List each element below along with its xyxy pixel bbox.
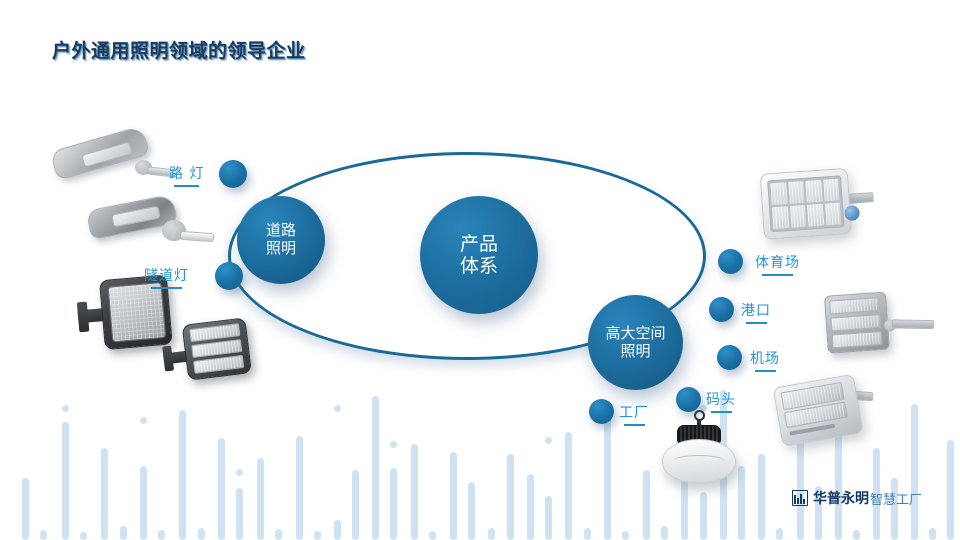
node-label-text: 港口 xyxy=(741,303,771,319)
decor-bar xyxy=(565,432,572,540)
node-label-tunnel-light[interactable]: 隧道灯 xyxy=(144,265,189,289)
flood-led-grid xyxy=(767,175,844,232)
slide-canvas: 户外通用照明领域的领导企业 xyxy=(0,0,960,540)
decor-bar xyxy=(236,488,243,540)
decor-bar xyxy=(622,531,629,540)
label-underline xyxy=(151,287,183,289)
decor-bar xyxy=(507,454,514,540)
node-label-text: 体育场 xyxy=(755,255,800,271)
node-label-text: 码头 xyxy=(706,392,736,408)
led-cell xyxy=(788,181,805,204)
flood-led-face xyxy=(108,282,167,342)
node-label-factory[interactable]: 工厂 xyxy=(619,402,649,426)
decor-bar xyxy=(275,529,282,540)
decor-bar xyxy=(776,528,783,540)
decor-bar xyxy=(700,492,707,540)
product-module-flood xyxy=(824,288,938,358)
label-underline xyxy=(711,411,732,413)
node-label-airport[interactable]: 机场 xyxy=(750,348,780,372)
decor-bar xyxy=(314,531,321,540)
logo-brand-name: 华普永明 xyxy=(813,488,869,508)
decor-bar-tick xyxy=(390,441,397,448)
node-dot-tunnel-light[interactable] xyxy=(215,262,243,290)
decor-bar xyxy=(411,444,418,540)
hub-space-label: 高大空间 照明 xyxy=(605,325,665,360)
product-tunnel-flood-small xyxy=(160,315,259,388)
node-label-text: 工厂 xyxy=(619,405,649,421)
decor-bar xyxy=(296,436,303,540)
led-cell xyxy=(805,180,822,203)
led-cell xyxy=(789,205,806,228)
label-underline xyxy=(755,370,776,372)
blue-knob xyxy=(844,205,860,221)
hub-center-line2: 体系 xyxy=(460,255,498,277)
hub-road-line2: 照明 xyxy=(266,239,296,257)
node-dot-port[interactable] xyxy=(709,297,734,322)
product-street-lamp-lower xyxy=(88,196,213,254)
led-cell xyxy=(772,206,789,229)
decor-bar xyxy=(488,528,495,540)
decor-bar xyxy=(947,440,954,540)
hub-road-lighting[interactable]: 道路 照明 xyxy=(237,196,325,284)
label-underline xyxy=(624,424,645,426)
logo-mark-icon xyxy=(792,490,808,506)
decor-bar xyxy=(140,466,147,540)
node-label-street-light[interactable]: 路 灯 xyxy=(169,163,204,187)
decor-bar xyxy=(218,438,225,540)
decor-bar xyxy=(527,474,534,540)
hub-center-product-system[interactable]: 产品 体系 xyxy=(420,196,538,314)
flood-bracket-plate xyxy=(162,346,174,372)
node-dot-wharf[interactable] xyxy=(676,387,701,412)
node-dot-street-light[interactable] xyxy=(219,160,247,188)
decor-bar-tick xyxy=(545,437,552,444)
decor-bar xyxy=(604,414,611,540)
decor-bar xyxy=(584,528,591,540)
lamp-arm xyxy=(180,231,215,242)
decor-bar xyxy=(450,452,457,540)
decor-bar xyxy=(853,530,860,540)
label-underline xyxy=(174,185,199,187)
decor-bar xyxy=(643,470,650,540)
hub-space-line2: 照明 xyxy=(620,342,650,360)
led-cell xyxy=(824,202,841,225)
hub-center-line1: 产品 xyxy=(460,233,498,255)
brand-logo: 华普永明 智慧工厂 xyxy=(792,488,922,508)
node-label-text: 隧道灯 xyxy=(144,268,189,284)
decor-bar xyxy=(334,520,341,540)
led-cell xyxy=(807,204,824,227)
decor-bar-tick xyxy=(236,469,243,476)
decor-bar xyxy=(40,530,47,540)
node-label-text: 机场 xyxy=(750,351,780,367)
decor-bar xyxy=(158,530,165,540)
led-cell xyxy=(823,179,840,202)
decor-bar xyxy=(62,422,69,540)
decor-bar xyxy=(758,454,765,540)
decor-bar xyxy=(352,470,359,540)
hub-road-line1: 道路 xyxy=(266,221,296,239)
decor-bar xyxy=(545,496,552,540)
decor-bar xyxy=(80,532,87,540)
decor-bar xyxy=(929,528,936,540)
decor-bar-tick xyxy=(140,417,147,424)
product-high-bay-ufo xyxy=(656,410,742,488)
node-label-text: 路 灯 xyxy=(169,166,204,182)
flood-arm xyxy=(892,319,934,329)
led-cell xyxy=(770,182,787,205)
label-underline xyxy=(746,322,767,324)
decor-bar-tick xyxy=(334,405,341,412)
decor-bar-tick xyxy=(62,405,69,412)
flood-bracket-plate xyxy=(77,302,90,333)
hub-large-space-lighting[interactable]: 高大空间 照明 xyxy=(588,295,683,390)
ufo-ring xyxy=(673,455,725,467)
decor-bar xyxy=(468,482,475,540)
decor-bar xyxy=(198,528,205,540)
hub-road-label: 道路 照明 xyxy=(266,222,296,257)
node-label-stadium[interactable]: 体育场 xyxy=(755,252,800,276)
decor-bar xyxy=(179,410,186,540)
decor-bar xyxy=(257,458,264,540)
product-stadium-flood xyxy=(760,166,877,246)
decor-bar xyxy=(661,526,668,540)
node-dot-stadium[interactable] xyxy=(718,249,743,274)
hub-center-label: 产品 体系 xyxy=(460,233,498,278)
decor-bar xyxy=(429,531,436,540)
node-dot-factory[interactable] xyxy=(589,399,614,424)
logo-suffix: 智慧工厂 xyxy=(870,489,922,508)
label-underline xyxy=(762,274,794,276)
node-label-port[interactable]: 港口 xyxy=(741,300,771,324)
decor-bar xyxy=(22,478,29,540)
decor-bar xyxy=(120,526,127,540)
node-label-wharf[interactable]: 码头 xyxy=(706,389,736,413)
page-title: 户外通用照明领域的领导企业 xyxy=(52,36,306,63)
decor-bar xyxy=(372,396,379,540)
hub-space-line1: 高大空间 xyxy=(605,324,665,342)
node-dot-airport[interactable] xyxy=(717,345,742,370)
decor-bar xyxy=(911,404,918,540)
product-street-lamp-upper xyxy=(52,130,172,188)
decor-bar xyxy=(390,468,397,540)
decor-bar xyxy=(101,448,108,540)
